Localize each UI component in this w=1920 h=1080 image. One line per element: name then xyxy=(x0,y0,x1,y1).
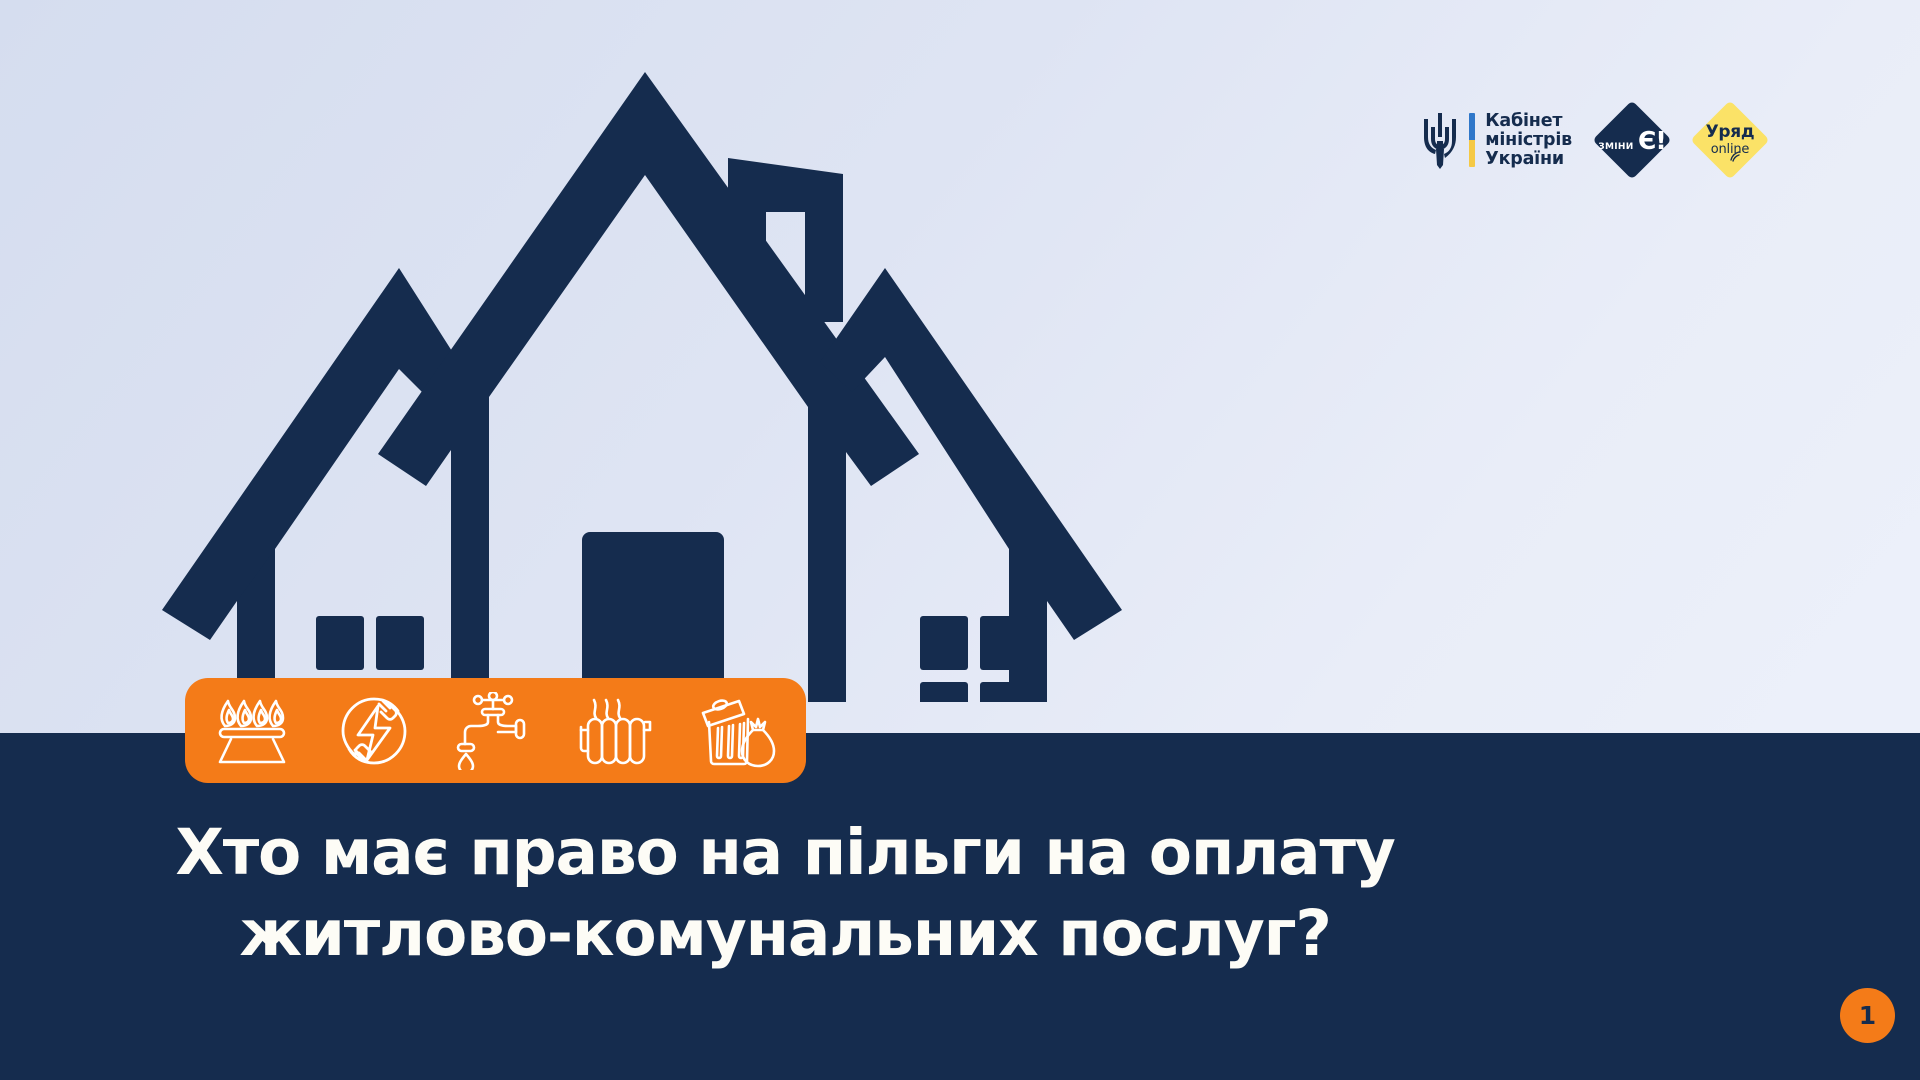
uryad-online-logo[interactable]: Уряд online xyxy=(1692,102,1768,178)
uryad-online-text: Уряд online xyxy=(1692,124,1768,157)
wifi-wave-icon xyxy=(1729,150,1745,166)
page-number-badge: 1 xyxy=(1840,988,1895,1043)
uryad-label: Уряд xyxy=(1706,122,1755,142)
page-title-line-1: Хто має право на пільги на оплату xyxy=(0,812,1570,893)
slide-root: Кабінет міністрів України ЗМІНИ Є! Уряд xyxy=(0,0,1920,1080)
radiator-icon xyxy=(576,692,658,770)
flag-rule-divider xyxy=(1469,113,1475,167)
page-title: Хто має право на пільги на оплату житлов… xyxy=(0,812,1570,974)
page-title-line-2: житлово-комунальних послуг? xyxy=(0,893,1570,974)
electricity-icon xyxy=(333,692,415,770)
zminy-ye-text: ЗМІНИ Є! xyxy=(1598,128,1665,153)
logo-bar: Кабінет міністрів України ЗМІНИ Є! Уряд xyxy=(1421,100,1768,180)
cabinet-of-ministers-logo[interactable]: Кабінет міністрів України xyxy=(1421,111,1572,169)
ukraine-trident-icon xyxy=(1421,111,1459,169)
cabinet-line-3: України xyxy=(1485,149,1564,169)
cabinet-line-2: міністрів xyxy=(1485,130,1572,150)
zminy-label: ЗМІНИ xyxy=(1598,142,1633,152)
waste-bin-icon xyxy=(698,692,780,770)
cabinet-line-1: Кабінет xyxy=(1485,111,1562,131)
gas-burner-icon xyxy=(211,692,293,770)
water-tap-icon xyxy=(455,692,537,770)
zminy-ye-logo[interactable]: ЗМІНИ Є! xyxy=(1594,102,1670,178)
cabinet-of-ministers-text: Кабінет міністрів України xyxy=(1485,112,1572,169)
ye-label: Є! xyxy=(1638,126,1666,155)
utility-services-bar xyxy=(185,678,806,783)
three-houses-illustration xyxy=(140,62,1200,702)
